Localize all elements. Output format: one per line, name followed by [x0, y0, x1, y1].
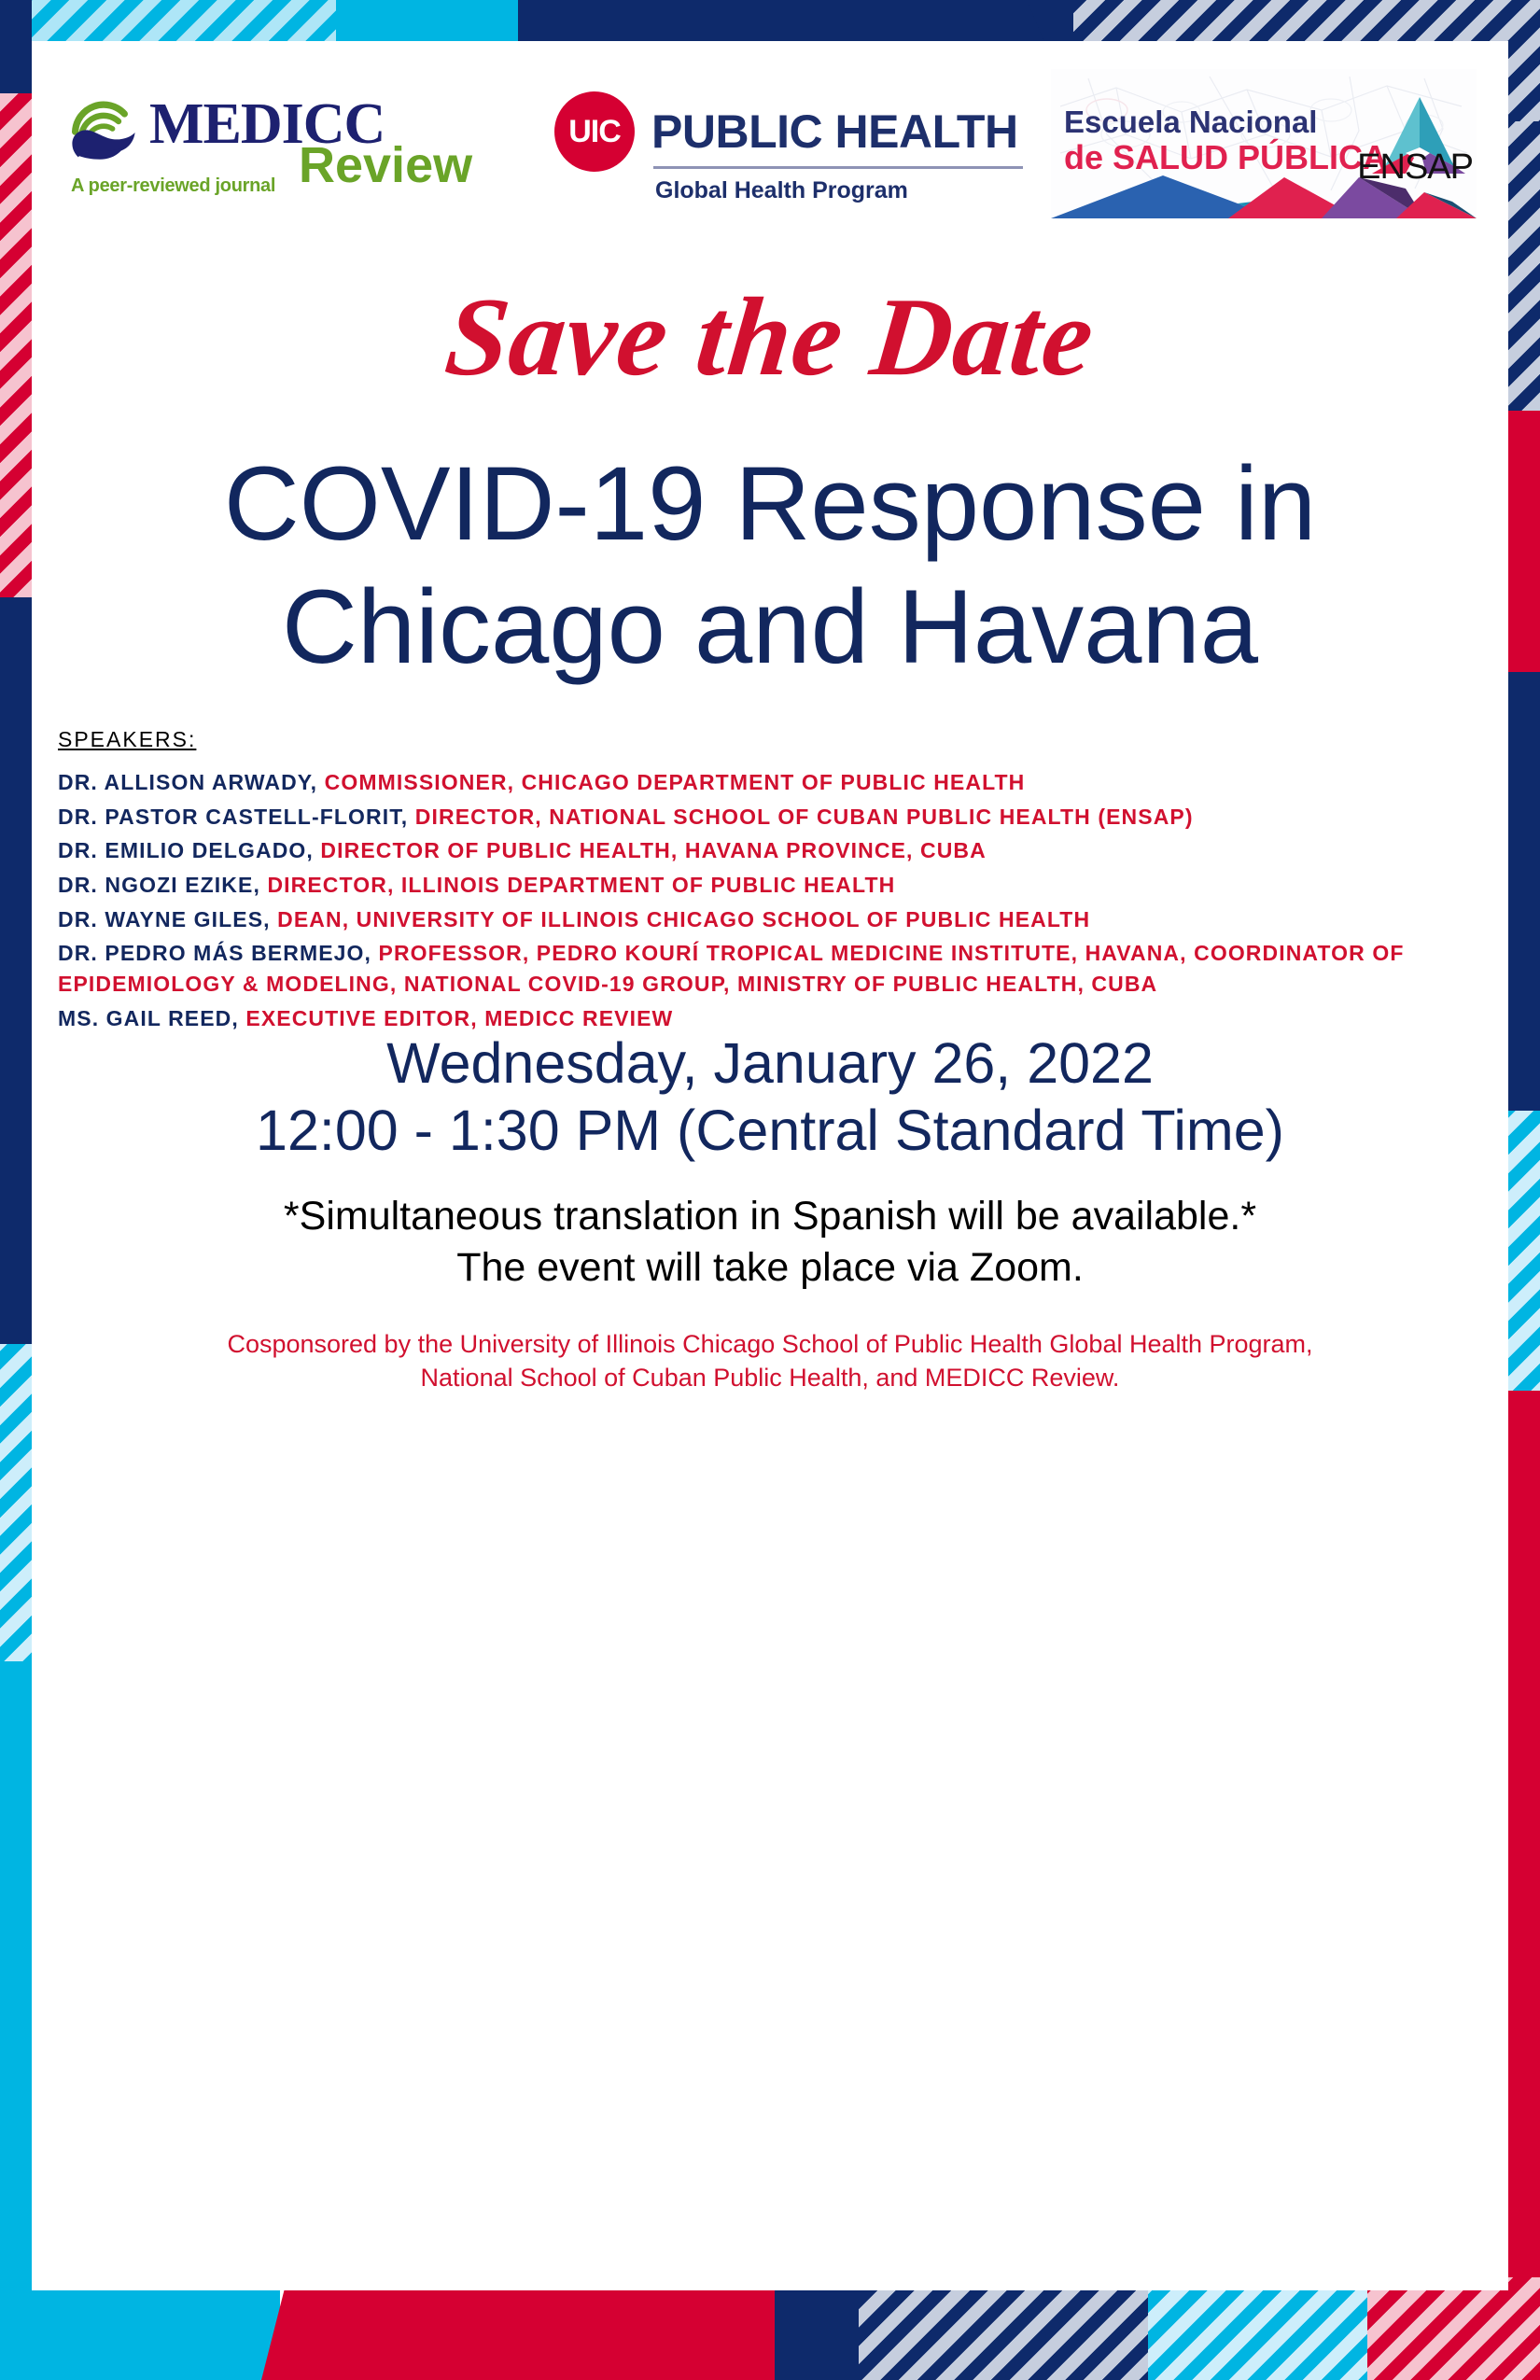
page-title: COVID-19 Response in Chicago and Havana [50, 442, 1490, 689]
save-the-date-banner: Save the Date [25, 273, 1516, 401]
border-stripe-bottom-cyan [1148, 2277, 1377, 2380]
border-block-bottom-red [261, 2277, 784, 2380]
logo-uic-public-health: UIC PUBLIC HEALTH Global Health Program [554, 84, 1040, 215]
speaker-name: DR. EMILIO DELGADO, [58, 838, 314, 862]
speaker-title: EXECUTIVE EDITOR, MEDICC REVIEW [245, 1006, 673, 1030]
ensap-mountain-range-icon [1051, 166, 1477, 218]
speaker-name: DR. PEDRO MÁS BERMEJO, [58, 941, 371, 965]
border-stripe-left-red [0, 93, 32, 616]
uic-circle-icon: UIC [554, 91, 635, 172]
cosponsor-line2: National School of Cuban Public Health, … [88, 1361, 1452, 1394]
translation-note: *Simultaneous translation in Spanish wil… [32, 1191, 1508, 1242]
event-time: 12:00 - 1:30 PM (Central Standard Time) [32, 1098, 1508, 1165]
border-stripe-left-cyan [0, 1344, 32, 1671]
speaker-name: DR. WAYNE GILES, [58, 907, 271, 931]
border-block-bottom-cyan [0, 2277, 280, 2380]
border-block-right-navy [1508, 672, 1540, 1139]
border-stripe-right-cyan [1508, 1111, 1540, 1419]
medicc-tagline: A peer-reviewed journal [71, 175, 275, 197]
ensap-line1: Escuela Nacional [1064, 105, 1317, 140]
event-notes: *Simultaneous translation in Spanish wil… [32, 1191, 1508, 1294]
speaker-row: DR. PEDRO MÁS BERMEJO, PROFESSOR, PEDRO … [58, 938, 1488, 999]
platform-note: The event will take place via Zoom. [32, 1242, 1508, 1294]
border-block-right-red-top [1508, 411, 1540, 691]
border-block-right-red [1508, 1391, 1540, 2296]
border-block-left-navy-top [0, 0, 32, 103]
speakers-section: SPEAKERS: DR. ALLISON ARWADY, COMMISSION… [58, 727, 1488, 1037]
uic-mark-text: UIC [568, 114, 621, 150]
border-block-left-navy [0, 597, 32, 1363]
speaker-title: DIRECTOR, ILLINOIS DEPARTMENT OF PUBLIC … [267, 873, 895, 897]
medicc-wave-hand-icon [65, 99, 142, 174]
uic-subtitle: Global Health Program [655, 177, 908, 204]
page-title-line1: COVID-19 Response in [50, 442, 1490, 566]
event-date: Wednesday, January 26, 2022 [32, 1030, 1508, 1098]
uic-title: PUBLIC HEALTH [651, 105, 1018, 159]
speaker-row: DR. NGOZI EZIKE, DIRECTOR, ILLINOIS DEPA… [58, 870, 1488, 901]
speaker-row: DR. ALLISON ARWADY, COMMISSIONER, CHICAG… [58, 767, 1488, 798]
speaker-row: DR. EMILIO DELGADO, DIRECTOR OF PUBLIC H… [58, 835, 1488, 866]
uic-divider-rule [653, 166, 1023, 169]
speaker-row: DR. PASTOR CASTELL-FLORIT, DIRECTOR, NAT… [58, 802, 1488, 833]
event-datetime: Wednesday, January 26, 2022 12:00 - 1:30… [32, 1030, 1508, 1165]
cosponsor-footer: Cosponsored by the University of Illinoi… [88, 1327, 1452, 1395]
border-stripe-bottom-red [1367, 2277, 1540, 2380]
logo-medicc-review: MEDICC Review A peer-reviewed journal [65, 90, 513, 202]
speaker-title: DEAN, UNIVERSITY OF ILLINOIS CHICAGO SCH… [277, 907, 1090, 931]
speaker-name: DR. PASTOR CASTELL-FLORIT, [58, 805, 408, 829]
speaker-name: MS. GAIL REED, [58, 1006, 239, 1030]
speaker-name: DR. ALLISON ARWADY, [58, 770, 317, 794]
border-stripe-bottom-navy [859, 2277, 1157, 2380]
border-block-left-cyan [0, 1661, 32, 2296]
cosponsor-line1: Cosponsored by the University of Illinoi… [88, 1327, 1452, 1361]
speaker-title: DIRECTOR, NATIONAL SCHOOL OF CUBAN PUBLI… [415, 805, 1194, 829]
speaker-row: DR. WAYNE GILES, DEAN, UNIVERSITY OF ILL… [58, 904, 1488, 935]
speaker-title: COMMISSIONER, CHICAGO DEPARTMENT OF PUBL… [325, 770, 1026, 794]
medicc-review-word: Review [299, 140, 472, 190]
speakers-heading: SPEAKERS: [58, 727, 1488, 752]
logo-ensap: Escuela Nacional de SALUD PÚBLICA ENSAP [1051, 69, 1477, 218]
speaker-name: DR. NGOZI EZIKE, [58, 873, 260, 897]
logo-row: MEDICC Review A peer-reviewed journal UI… [32, 56, 1508, 219]
speaker-title: DIRECTOR OF PUBLIC HEALTH, HAVANA PROVIN… [320, 838, 986, 862]
poster-content-card: MEDICC Review A peer-reviewed journal UI… [32, 41, 1508, 2290]
page-title-line2: Chicago and Havana [50, 566, 1490, 689]
speaker-row: MS. GAIL REED, EXECUTIVE EDITOR, MEDICC … [58, 1003, 1488, 1034]
